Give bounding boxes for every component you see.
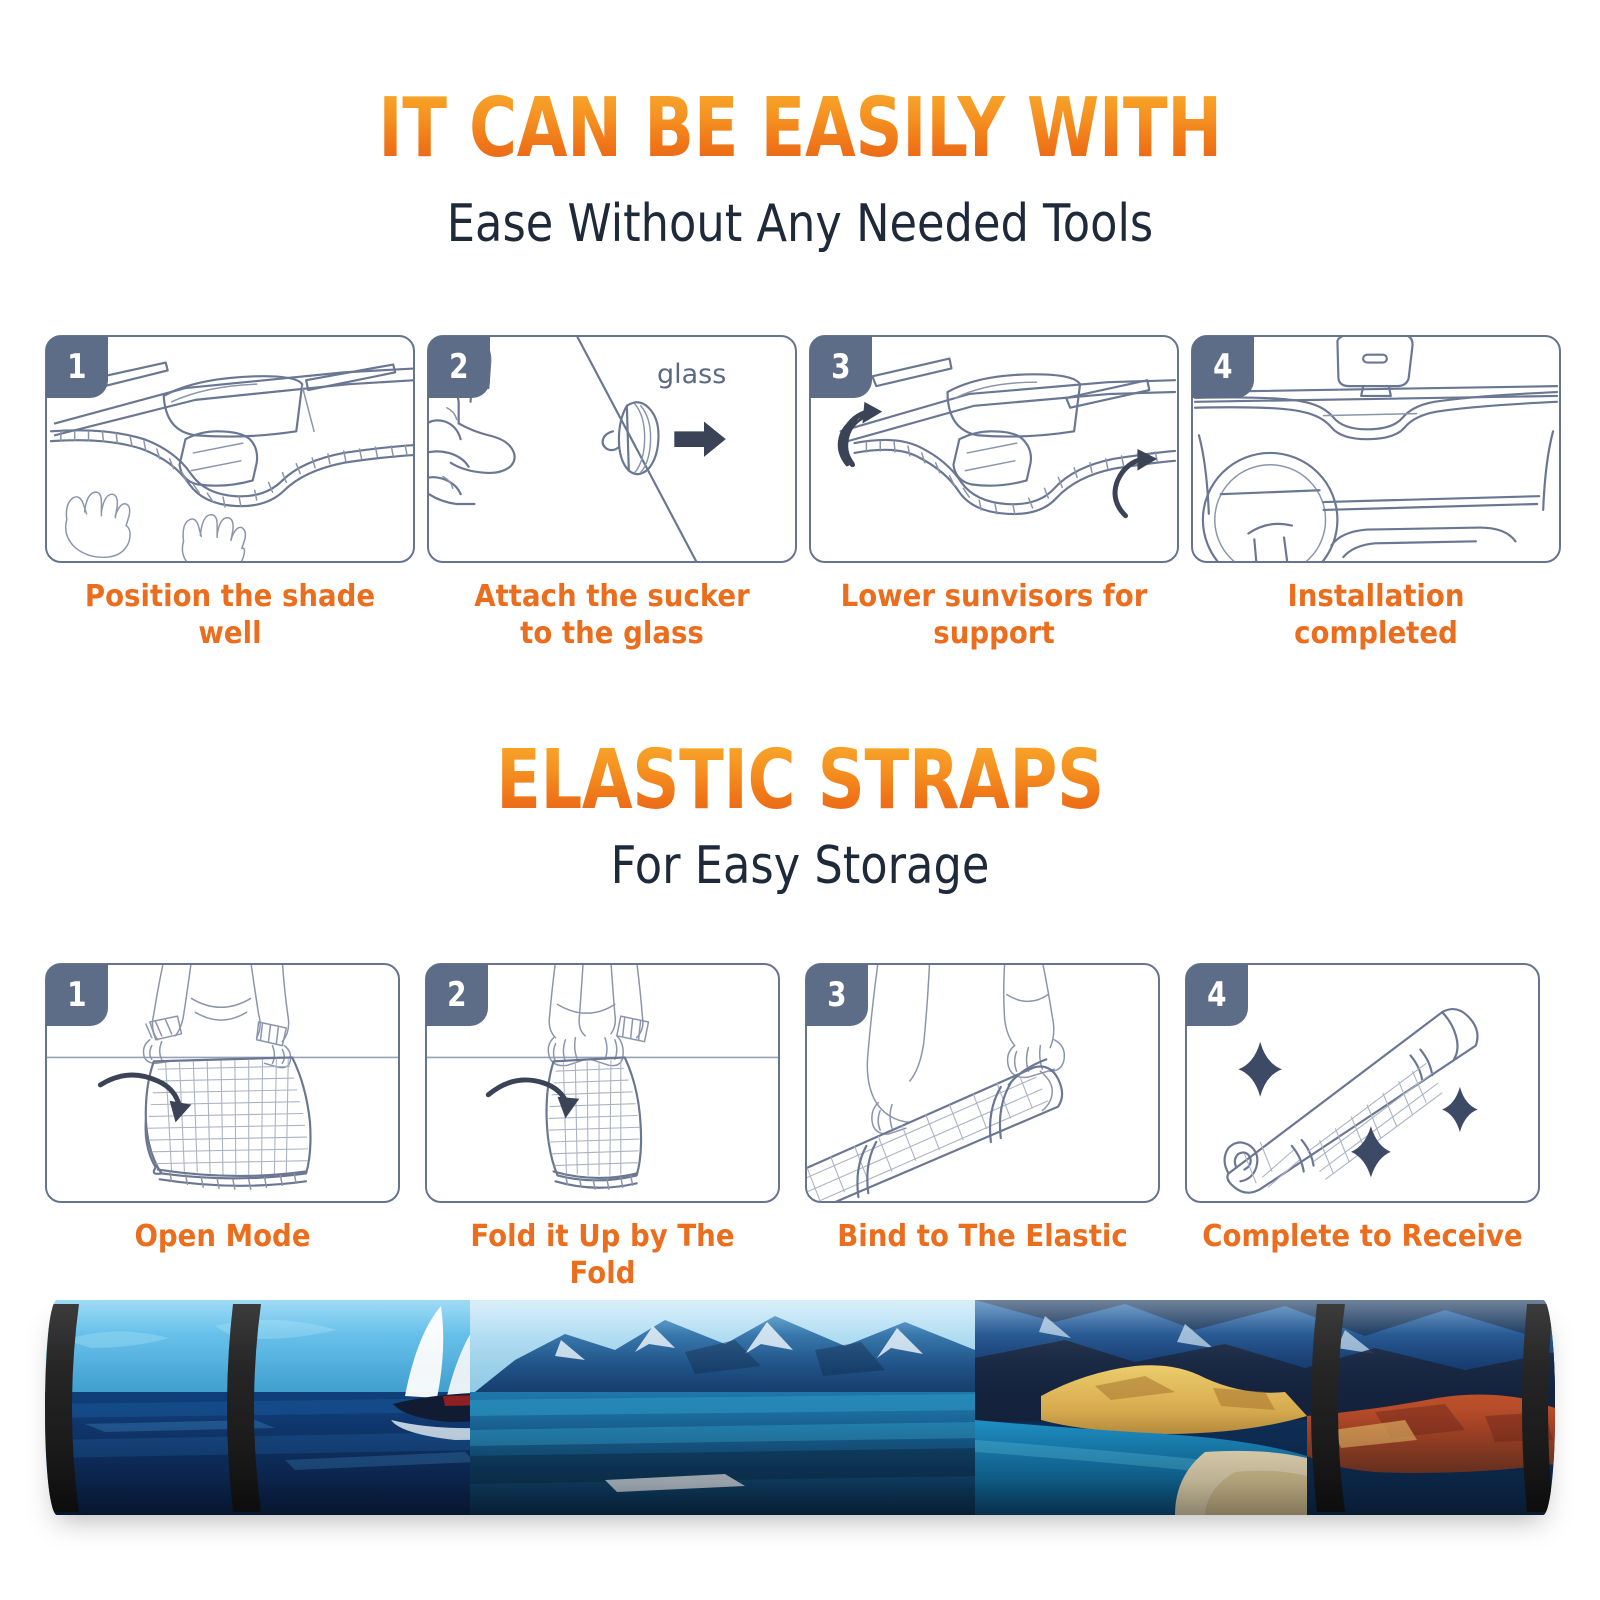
storage-panel-3[interactable]: 3 [805, 963, 1160, 1203]
storage-caption-1: Open Mode [59, 1219, 386, 1256]
step-caption-2: Attach the sucker to the glass [442, 579, 782, 652]
installation-steps-row: 1 [45, 335, 1555, 652]
glass-annotation-label: glass [657, 359, 726, 390]
step-panel-3[interactable]: 3 [809, 335, 1179, 563]
step-install-2[interactable]: 2 [427, 335, 797, 652]
section-2-title: ELASTIC STRAPS [160, 740, 1440, 822]
section-2-subtitle: For Easy Storage [112, 838, 1488, 895]
step-badge-3: 3 [810, 336, 872, 398]
storage-steps-row: 1 [45, 963, 1555, 1292]
step-caption-1: Position the shade well [60, 579, 400, 652]
storage-badge-1: 1 [46, 964, 108, 1026]
section-2-subtitle-wrap: For Easy Storage [0, 838, 1600, 895]
step-install-1[interactable]: 1 [45, 335, 415, 652]
step-badge-2: 2 [428, 336, 490, 398]
storage-badge-4: 4 [1186, 964, 1248, 1026]
infographic-page: IT CAN BE EASILY WITH Ease Without Any N… [0, 0, 1600, 1600]
storage-caption-3: Bind to The Elastic [819, 1219, 1146, 1256]
step-storage-2[interactable]: 2 [425, 963, 780, 1292]
storage-caption-4: Complete to Receive [1199, 1219, 1526, 1256]
storage-badge-3: 3 [806, 964, 868, 1026]
storage-panel-4[interactable]: 4 [1185, 963, 1540, 1203]
product-photo [45, 1300, 1555, 1515]
storage-panel-1[interactable]: 1 [45, 963, 400, 1203]
storage-badge-2: 2 [426, 964, 488, 1026]
step-storage-1[interactable]: 1 [45, 963, 400, 1292]
section-1-subtitle: Ease Without Any Needed Tools [112, 196, 1488, 253]
step-badge-1: 1 [46, 336, 108, 398]
section-2-title-wrap: ELASTIC STRAPS [0, 740, 1600, 822]
product-photo-image [45, 1300, 1555, 1515]
step-badge-4: 4 [1192, 336, 1254, 398]
section-1-title: IT CAN BE EASILY WITH [160, 88, 1440, 170]
storage-caption-2: Fold it Up by The Fold [439, 1219, 766, 1292]
step-panel-4[interactable]: 4 [1191, 335, 1561, 563]
storage-panel-2[interactable]: 2 [425, 963, 780, 1203]
step-panel-1[interactable]: 1 [45, 335, 415, 563]
step-caption-3: Lower sunvisors for support [824, 579, 1164, 652]
step-install-4[interactable]: 4 [1191, 335, 1561, 652]
section-1-subtitle-wrap: Ease Without Any Needed Tools [0, 196, 1600, 253]
section-1-title-wrap: IT CAN BE EASILY WITH [0, 88, 1600, 170]
step-storage-4[interactable]: 4 [1185, 963, 1540, 1292]
step-install-3[interactable]: 3 [809, 335, 1179, 652]
step-caption-4: Installation completed [1206, 579, 1546, 652]
step-panel-2[interactable]: 2 [427, 335, 797, 563]
step-storage-3[interactable]: 3 [805, 963, 1160, 1292]
